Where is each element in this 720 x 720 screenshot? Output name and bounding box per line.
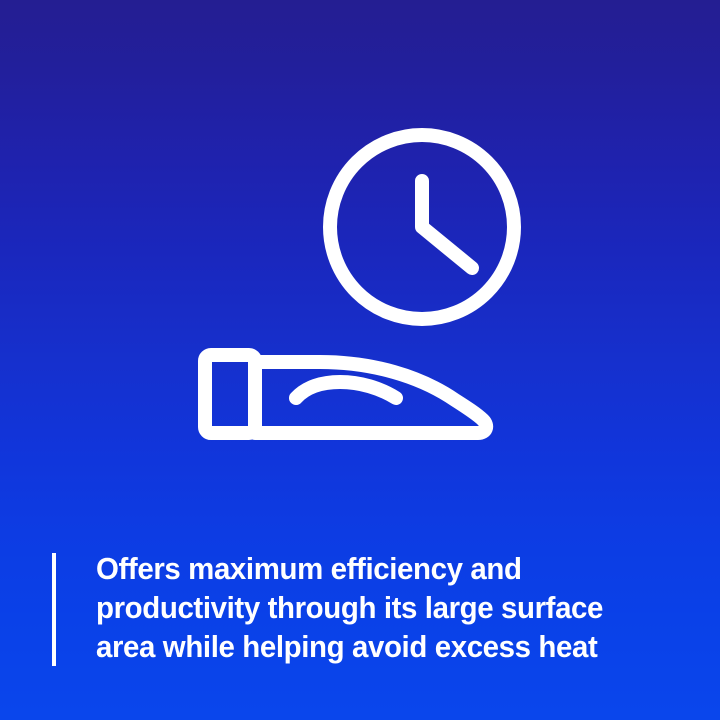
caption-block: Offers maximum efficiency and productivi… [52,550,692,667]
clock-hands [422,181,472,268]
train-window-line [296,382,396,398]
train-cab-block [205,355,255,433]
bullet-train-icon [205,355,486,433]
icon-artwork [0,0,720,470]
accent-bar [52,553,56,666]
clock-icon [330,135,514,319]
caption-text: Offers maximum efficiency and productivi… [96,550,665,667]
icon-cluster [0,0,720,470]
promo-slide: Offers maximum efficiency and productivi… [0,0,720,720]
